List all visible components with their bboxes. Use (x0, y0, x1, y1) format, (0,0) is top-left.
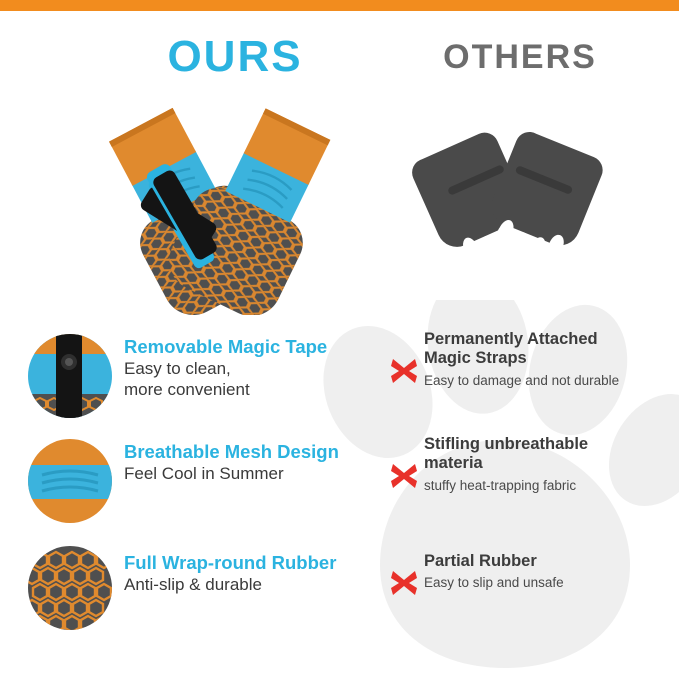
others-feature-subtitle: Easy to slip and unsafe (424, 575, 674, 591)
header-others: OTHERS (390, 38, 650, 77)
ours-feature-title: Removable Magic Tape (124, 336, 384, 357)
ours-feature-text: Breathable Mesh Design Feel Cool in Summ… (124, 441, 384, 485)
ours-feature-text: Full Wrap-round Rubber Anti-slip & durab… (124, 552, 384, 596)
ours-feature-subtitle: Easy to clean, more convenient (124, 359, 384, 400)
others-feature-subtitle: stuffy heat-trapping fabric (424, 478, 674, 494)
header-ours: OURS (110, 32, 360, 82)
feature-row: Removable Magic Tape Easy to clean, more… (0, 330, 679, 425)
others-feature-title: Permanently Attached Magic Straps (424, 330, 674, 369)
magic-tape-closeup-thumbnail (28, 334, 112, 418)
others-feature-text: Stifling unbreathable materia stuffy hea… (424, 435, 674, 494)
others-feature-text: Partial Rubber Easy to slip and unsafe (424, 552, 674, 592)
others-feature-subtitle: Easy to damage and not durable (424, 373, 674, 389)
feature-comparison-list: Removable Magic Tape Easy to clean, more… (0, 330, 679, 630)
feature-row: Breathable Mesh Design Feel Cool in Summ… (0, 435, 679, 530)
comparison-headers: OURS OTHERS (0, 32, 679, 92)
ours-feature-subtitle: Anti-slip & durable (124, 575, 384, 595)
red-x-icon (389, 356, 419, 386)
mesh-fabric-closeup-thumbnail (28, 439, 112, 523)
ours-feature-text: Removable Magic Tape Easy to clean, more… (124, 336, 384, 400)
feature-row: Full Wrap-round Rubber Anti-slip & durab… (0, 542, 679, 637)
ours-feature-subtitle: Feel Cool in Summer (124, 464, 384, 484)
ours-product-image (95, 100, 345, 315)
others-product-image (410, 130, 610, 295)
top-accent-bar (0, 0, 679, 11)
red-x-icon (389, 568, 419, 598)
others-feature-title: Partial Rubber (424, 552, 674, 571)
others-feature-title: Stifling unbreathable materia (424, 435, 674, 474)
ours-feature-title: Breathable Mesh Design (124, 441, 384, 462)
ours-feature-title: Full Wrap-round Rubber (124, 552, 384, 573)
red-x-icon (389, 461, 419, 491)
rubber-honeycomb-sole-closeup-thumbnail (28, 546, 112, 630)
others-feature-text: Permanently Attached Magic Straps Easy t… (424, 330, 674, 389)
